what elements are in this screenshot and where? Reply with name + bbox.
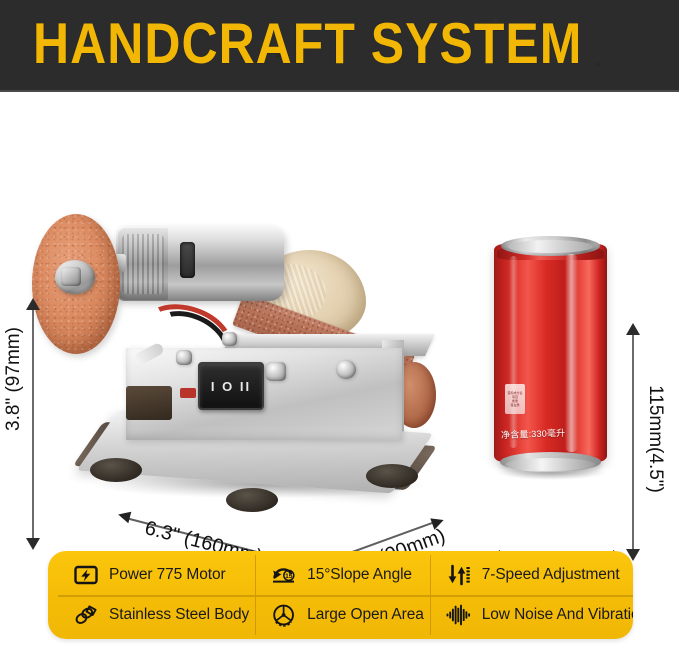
power-rocker-switch[interactable]: I O II xyxy=(198,362,264,410)
feature-item-open-area: Large Open Area xyxy=(255,595,430,635)
height-dimension-label: 3.8" (97mm) xyxy=(3,314,25,444)
feature-item-power: Power 775 Motor xyxy=(58,555,255,595)
can-height-arrow-up-icon xyxy=(626,323,640,335)
mount-bolt xyxy=(176,350,192,365)
comparison-can-image: 营养成分表 项目 能量 蛋白质 净含量:330毫升 xyxy=(487,232,619,552)
speed-arrows-icon xyxy=(445,561,473,589)
feature-item-slope: 15 15°Slope Angle xyxy=(255,555,430,595)
mount-bolt xyxy=(336,360,356,379)
can-height-dimension-label: 115mm(4.5") xyxy=(644,369,666,509)
page-title: HANDCRAFT SYSTEM xyxy=(33,16,582,74)
mount-bolt xyxy=(222,332,237,346)
sound-wave-icon xyxy=(445,601,473,629)
feature-label: Large Open Area xyxy=(307,606,424,624)
open-area-icon xyxy=(270,601,298,629)
feature-bar: Power 775 Motor 15 15°Slope Angle xyxy=(48,551,633,639)
height-dimension-line xyxy=(32,307,34,539)
steel-plates-icon xyxy=(72,601,100,629)
can-top-lid xyxy=(508,240,593,253)
can-highlight xyxy=(565,254,578,452)
power-bolt-icon xyxy=(72,561,100,589)
svg-text:15: 15 xyxy=(285,573,293,580)
feature-label: 15°Slope Angle xyxy=(307,566,412,584)
feature-item-steel-body: Stainless Steel Body xyxy=(58,595,255,635)
feature-label: Stainless Steel Body xyxy=(109,606,249,624)
rubber-foot xyxy=(226,488,278,512)
can-height-dimension-line xyxy=(632,332,634,550)
wheel-lock-nut xyxy=(61,267,81,286)
can-nutrition-label: 营养成分表 项目 能量 蛋白质 xyxy=(505,384,525,414)
height-arrow-up-icon xyxy=(26,298,40,310)
mount-bolt xyxy=(266,362,286,381)
can-bottom-base xyxy=(506,458,595,471)
can-highlight-secondary xyxy=(509,256,518,448)
length-arrow-left-icon xyxy=(117,509,132,524)
can-nutrition-line: 蛋白质 xyxy=(510,404,519,407)
product-image-grinder: I O II xyxy=(30,172,450,492)
motor-vent xyxy=(180,242,195,278)
feature-item-speed: 7-Speed Adjustment xyxy=(430,555,633,595)
height-arrow-down-icon xyxy=(26,538,40,550)
feature-label: Power 775 Motor xyxy=(109,566,226,584)
terminal-block xyxy=(126,386,172,420)
page-header: HANDCRAFT SYSTEM xyxy=(0,0,679,92)
rubber-foot xyxy=(90,458,142,482)
feature-item-low-noise: Low Noise And Vibration xyxy=(430,595,633,635)
feature-label: Low Noise And Vibration xyxy=(482,606,633,624)
rubber-foot xyxy=(366,464,418,488)
slope-angle-icon: 15 xyxy=(270,561,298,589)
red-cap xyxy=(180,388,196,398)
product-stage: I O II 营养成分表 项目 能量 蛋白质 净含量:330毫升 3.8" (9… xyxy=(0,92,679,547)
can-volume-text: 净含量:330毫升 xyxy=(501,426,566,441)
feature-label: 7-Speed Adjustment xyxy=(482,566,620,584)
